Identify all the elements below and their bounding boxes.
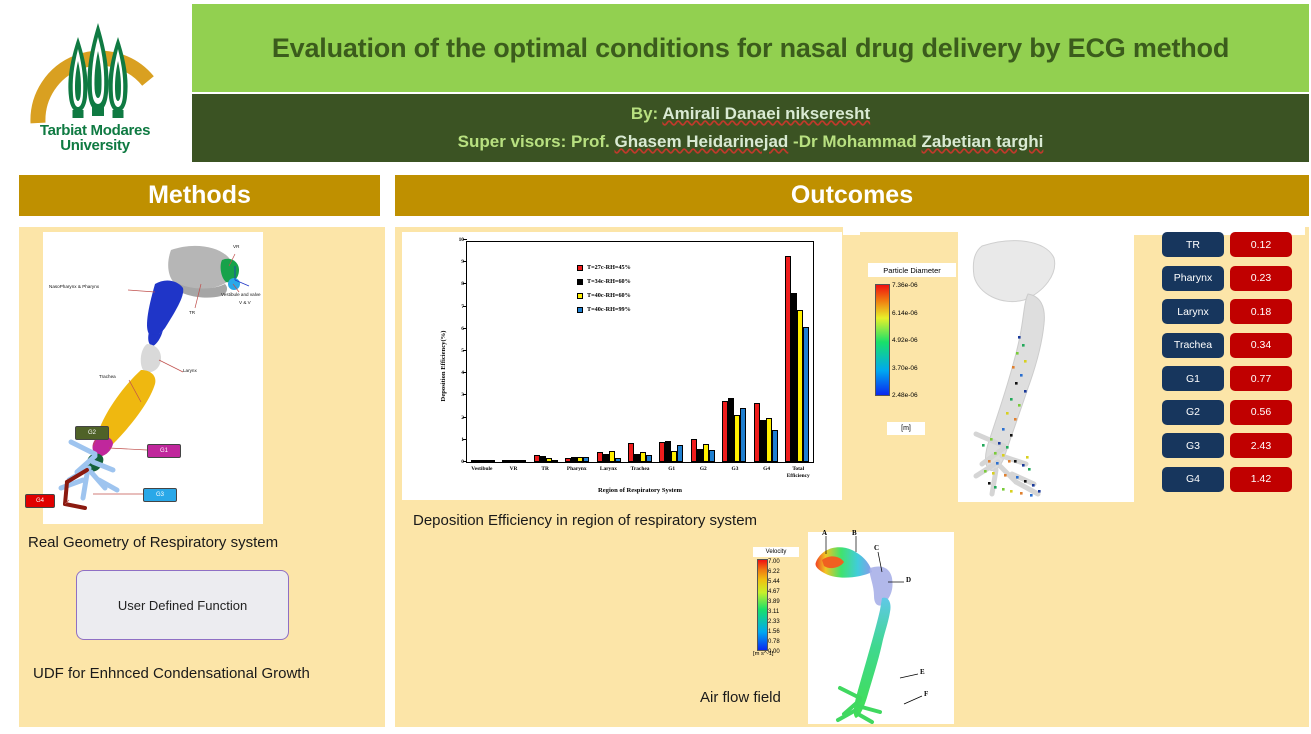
deposition-particle bbox=[1012, 366, 1015, 369]
author-name: Amirali Danaei nikseresht bbox=[662, 104, 870, 123]
deposition-particle bbox=[1024, 480, 1027, 483]
poster-root: Tarbiat Modares University Evaluation of… bbox=[0, 0, 1311, 734]
chart-x-tick-labels: VestibuleVRTRPharynxLarynxTracheaG1G2G3G… bbox=[466, 466, 814, 479]
deposition-particle bbox=[1014, 418, 1017, 421]
deposition-efficiency-chart: Deposition Efficiency(%) 012345678910 T=… bbox=[402, 232, 842, 500]
chart-bar-group bbox=[467, 242, 498, 462]
deposition-particle bbox=[1006, 412, 1009, 415]
velocity-legend: Velocity 7.006.225.444.673.893.112.331.5… bbox=[753, 547, 805, 662]
outcomes-panel: Deposition Efficiency(%) 012345678910 T=… bbox=[395, 227, 1309, 727]
chart-x-tick-label: Pharynx bbox=[561, 466, 593, 479]
airflow-label-b: B bbox=[852, 529, 857, 537]
deposition-particle bbox=[1022, 344, 1025, 347]
particle-deposition-3d-figure bbox=[958, 232, 1134, 502]
chart-legend-item: T=40c-RH=99% bbox=[577, 306, 631, 313]
deposition-particle bbox=[1015, 382, 1018, 385]
deposition-caption: Deposition Efficiency in region of respi… bbox=[413, 512, 757, 529]
geometry-label-larynx: Larynx bbox=[183, 368, 197, 373]
region-name-cell: G2 bbox=[1162, 400, 1224, 425]
deposition-particle bbox=[1024, 360, 1027, 363]
deposition-particle bbox=[1006, 446, 1009, 449]
geometry-tag-g4: G4 bbox=[25, 494, 55, 508]
velocity-tick: 7.00 bbox=[768, 559, 780, 565]
deposition-particle bbox=[982, 444, 985, 447]
geometry-label-vv: V & V bbox=[239, 300, 251, 305]
deposition-particle bbox=[1016, 352, 1019, 355]
geometry-tag-g1: G1 bbox=[147, 444, 181, 458]
region-name-cell: TR bbox=[1162, 232, 1224, 257]
region-name-cell: Larynx bbox=[1162, 299, 1224, 324]
chart-bar bbox=[677, 445, 683, 462]
deposition-particle bbox=[988, 460, 991, 463]
region-name-cell: G3 bbox=[1162, 433, 1224, 458]
airflow-label-e: E bbox=[920, 668, 925, 676]
airflow-caption: Air flow field bbox=[700, 689, 781, 706]
chart-x-tick-label: TR bbox=[529, 466, 561, 479]
region-name-cell: Trachea bbox=[1162, 333, 1224, 358]
deposition-particle bbox=[1002, 454, 1005, 457]
table-row: G41.42 bbox=[1162, 467, 1304, 492]
chart-legend-item: T=27c-RH=45% bbox=[577, 264, 631, 271]
particle-diameter-tick: 2.48e-06 bbox=[892, 392, 918, 399]
chart-legend-swatch bbox=[577, 307, 583, 313]
section-title-methods: Methods bbox=[148, 181, 251, 210]
chart-y-tick: 10 bbox=[459, 237, 467, 243]
deposition-particle bbox=[1022, 464, 1025, 467]
deposition-particle bbox=[1032, 484, 1035, 487]
deposition-particle bbox=[1024, 390, 1027, 393]
chart-legend-label: T=34c-RH=60% bbox=[587, 278, 631, 285]
table-row: G32.43 bbox=[1162, 433, 1304, 458]
deposition-particle bbox=[1010, 490, 1013, 493]
chart-bar bbox=[552, 460, 558, 462]
table-row: TR0.12 bbox=[1162, 232, 1304, 257]
velocity-tick: 2.33 bbox=[768, 619, 780, 625]
airflow-label-c: C bbox=[874, 544, 879, 552]
deposition-particle bbox=[1010, 434, 1013, 437]
deposition-particle bbox=[994, 452, 997, 455]
deposition-particle bbox=[1010, 398, 1013, 401]
region-value-cell: 1.42 bbox=[1230, 467, 1292, 492]
velocity-tick: 3.11 bbox=[768, 609, 779, 615]
chart-bar bbox=[772, 430, 778, 462]
chart-plot-area: 012345678910 T=27c-RH=45%T=34c-RH=60%T=4… bbox=[466, 241, 814, 463]
geometry-tag-g2: G2 bbox=[75, 426, 109, 440]
chart-x-tick-label: VR bbox=[498, 466, 530, 479]
chart-bar-group bbox=[750, 242, 781, 462]
chart-x-axis-title: Region of Respiratory System bbox=[466, 487, 814, 494]
respiratory-geometry-figure: NasoPharynx & Pharynx VR TR Vestibule an… bbox=[43, 232, 263, 524]
geometry-label-nasopharynx: NasoPharynx & Pharynx bbox=[49, 284, 99, 289]
chart-legend-item: T=34c-RH=60% bbox=[577, 278, 631, 285]
chart-x-tick-label: G2 bbox=[687, 466, 719, 479]
deposition-particle bbox=[996, 462, 999, 465]
chart-bar bbox=[709, 450, 715, 462]
airflow-label-d: D bbox=[906, 576, 911, 584]
chart-x-tick-label: G3 bbox=[719, 466, 751, 479]
chart-legend-swatch bbox=[577, 265, 583, 271]
velocity-tick: 6.22 bbox=[768, 569, 780, 575]
particle-deposition-icon bbox=[958, 232, 1134, 502]
chart-x-tick-label: G1 bbox=[656, 466, 688, 479]
supervisor-name-2: Zabetian targhi bbox=[922, 132, 1044, 151]
deposition-particle bbox=[1016, 476, 1019, 479]
deposition-particle bbox=[1008, 460, 1011, 463]
table-row: G10.77 bbox=[1162, 366, 1304, 391]
logo-mark-icon bbox=[20, 15, 170, 127]
region-value-cell: 0.12 bbox=[1230, 232, 1292, 257]
university-logo: Tarbiat Modares University bbox=[0, 0, 190, 170]
velocity-ticks: 7.006.225.444.673.893.112.331.560.780.00 bbox=[768, 557, 804, 652]
chart-legend-label: T=40c-RH=99% bbox=[587, 306, 631, 313]
chart-bar-group bbox=[498, 242, 529, 462]
deposition-particle bbox=[1004, 474, 1007, 477]
deposition-particle bbox=[994, 486, 997, 489]
supervisor-line: Super visors: Prof. Ghasem Heidarinejad … bbox=[458, 132, 1044, 152]
chart-bar-group bbox=[719, 242, 750, 462]
chart-bar bbox=[615, 458, 621, 462]
region-name-cell: G1 bbox=[1162, 366, 1224, 391]
velocity-title: Velocity bbox=[753, 547, 799, 557]
chart-bar-group bbox=[530, 242, 561, 462]
deposition-particle bbox=[1020, 492, 1023, 495]
chart-legend-swatch bbox=[577, 279, 583, 285]
respiratory-geometry-icon bbox=[43, 232, 263, 524]
velocity-tick: 3.89 bbox=[768, 599, 780, 605]
geometry-label-vr: VR bbox=[233, 244, 239, 249]
deposition-particle bbox=[1018, 404, 1021, 407]
chart-legend-label: T=27c-RH=45% bbox=[587, 264, 631, 271]
authors-bar: By: Amirali Danaei nikseresht Super viso… bbox=[192, 94, 1309, 162]
chart-legend-label: T=40c-RH=60% bbox=[587, 292, 631, 299]
section-header-methods: Methods bbox=[19, 175, 380, 216]
udf-box: User Defined Function bbox=[76, 570, 289, 640]
logo-text-line1: Tarbiat Modares bbox=[20, 123, 170, 138]
udf-caption: UDF for Enhnced Condensational Growth bbox=[33, 665, 383, 682]
velocity-tick: 5.44 bbox=[768, 579, 780, 585]
deposition-particle bbox=[1038, 490, 1041, 493]
deposition-particle bbox=[1002, 428, 1005, 431]
chart-legend-swatch bbox=[577, 293, 583, 299]
chart-bar bbox=[646, 455, 652, 462]
region-value-cell: 0.56 bbox=[1230, 400, 1292, 425]
chart-bar-group bbox=[687, 242, 718, 462]
author-line: By: Amirali Danaei nikseresht bbox=[631, 104, 870, 124]
particle-diameter-tick: 6.14e-06 bbox=[892, 310, 918, 317]
deposition-particle bbox=[1014, 460, 1017, 463]
velocity-tick: 1.56 bbox=[768, 629, 780, 635]
geometry-caption: Real Geometry of Respiratory system bbox=[28, 534, 378, 551]
velocity-colorbar bbox=[757, 559, 768, 651]
geometry-label-trachea: Trachea bbox=[99, 374, 116, 379]
chart-bar-group bbox=[782, 242, 813, 462]
deposition-particle bbox=[1026, 456, 1029, 459]
airflow-field-icon bbox=[808, 532, 954, 724]
chart-y-axis-title: Deposition Efficiency(%) bbox=[440, 331, 447, 402]
particle-diameter-tick: 4.92e-06 bbox=[892, 337, 918, 344]
chart-x-tick-label: TotalEfficiency bbox=[782, 466, 814, 479]
region-value-cell: 0.77 bbox=[1230, 366, 1292, 391]
supervisor-prefix: Super visors: Prof. bbox=[458, 132, 615, 151]
chart-bar bbox=[583, 457, 589, 462]
chart-bar bbox=[803, 327, 809, 462]
section-title-outcomes: Outcomes bbox=[791, 181, 913, 210]
section-header-outcomes: Outcomes bbox=[395, 175, 1309, 216]
logo-text: Tarbiat Modares University bbox=[20, 123, 170, 153]
chart-bar bbox=[740, 408, 746, 462]
chart-x-tick-label: G4 bbox=[751, 466, 783, 479]
chart-bar bbox=[489, 460, 495, 462]
deposition-particle bbox=[988, 482, 991, 485]
particle-diameter-unit: [m] bbox=[887, 422, 925, 435]
deposition-particle bbox=[1030, 494, 1033, 497]
region-value-cell: 0.18 bbox=[1230, 299, 1292, 324]
airflow-label-a: A bbox=[822, 529, 827, 537]
particle-diameter-tick: 3.70e-06 bbox=[892, 365, 918, 372]
deposition-particle bbox=[1020, 374, 1023, 377]
deposition-particle bbox=[1018, 336, 1021, 339]
deposition-particle bbox=[990, 438, 993, 441]
chart-bars-layer bbox=[467, 242, 813, 462]
poster-header: Tarbiat Modares University Evaluation of… bbox=[0, 0, 1311, 170]
poster-title-bar: Evaluation of the optimal conditions for… bbox=[192, 4, 1309, 92]
chart-bar bbox=[520, 460, 526, 462]
table-row: Larynx0.18 bbox=[1162, 299, 1304, 324]
geometry-tag-g3: G3 bbox=[143, 488, 177, 502]
region-value-cell: 0.23 bbox=[1230, 266, 1292, 291]
table-row: G20.56 bbox=[1162, 400, 1304, 425]
region-name-cell: Pharynx bbox=[1162, 266, 1224, 291]
chart-legend-item: T=40c-RH=60% bbox=[577, 292, 631, 299]
region-value-cell: 0.34 bbox=[1230, 333, 1292, 358]
deposition-particle bbox=[984, 470, 987, 473]
table-row: Pharynx0.23 bbox=[1162, 266, 1304, 291]
deposition-particle bbox=[1002, 488, 1005, 491]
supervisor-separator: -Dr Mohammad bbox=[788, 132, 921, 151]
chart-y-tickmark bbox=[463, 239, 467, 240]
chart-x-tick-label: Larynx bbox=[593, 466, 625, 479]
logo-text-line2: University bbox=[20, 138, 170, 153]
region-name-cell: G4 bbox=[1162, 467, 1224, 492]
geometry-label-tr: TR bbox=[189, 310, 195, 315]
airflow-label-f: F bbox=[924, 690, 928, 698]
chart-legend: T=27c-RH=45%T=34c-RH=60%T=40c-RH=60%T=40… bbox=[577, 264, 631, 313]
table-row: Trachea0.34 bbox=[1162, 333, 1304, 358]
methods-panel: NasoPharynx & Pharynx VR TR Vestibule an… bbox=[19, 227, 385, 727]
region-value-cell: 2.43 bbox=[1230, 433, 1292, 458]
deposition-particle bbox=[1028, 468, 1031, 471]
chart-bar-group bbox=[656, 242, 687, 462]
particle-diameter-colorbar bbox=[875, 284, 890, 396]
particle-diameter-tick: 7.36e-06 bbox=[892, 282, 918, 289]
particle-diameter-legend: Particle Diameter 7.36e-066.14e-064.92e-… bbox=[860, 232, 965, 412]
page-title: Evaluation of the optimal conditions for… bbox=[272, 33, 1229, 64]
chart-x-tick-label: Trachea bbox=[624, 466, 656, 479]
udf-box-label: User Defined Function bbox=[118, 598, 247, 613]
velocity-unit: [m s^-1] bbox=[753, 651, 773, 657]
author-prefix: By: bbox=[631, 104, 663, 123]
airflow-field-figure: A B C D E F bbox=[808, 532, 954, 724]
chart-x-tick-label: Vestibule bbox=[466, 466, 498, 479]
geometry-label-vestibule-valve: Vestibule and valve bbox=[221, 292, 261, 297]
velocity-tick: 4.67 bbox=[768, 589, 780, 595]
particle-diameter-ticks: 7.36e-066.14e-064.92e-063.70e-062.48e-06 bbox=[892, 282, 952, 396]
velocity-tick: 0.78 bbox=[768, 639, 780, 645]
particle-diameter-title: Particle Diameter bbox=[868, 263, 956, 277]
supervisor-name-1: Ghasem Heidarinejad bbox=[614, 132, 788, 151]
region-efficiency-table: TR0.12Pharynx0.23Larynx0.18Trachea0.34G1… bbox=[1162, 232, 1304, 492]
deposition-particle bbox=[998, 442, 1001, 445]
deposition-particle bbox=[992, 472, 995, 475]
